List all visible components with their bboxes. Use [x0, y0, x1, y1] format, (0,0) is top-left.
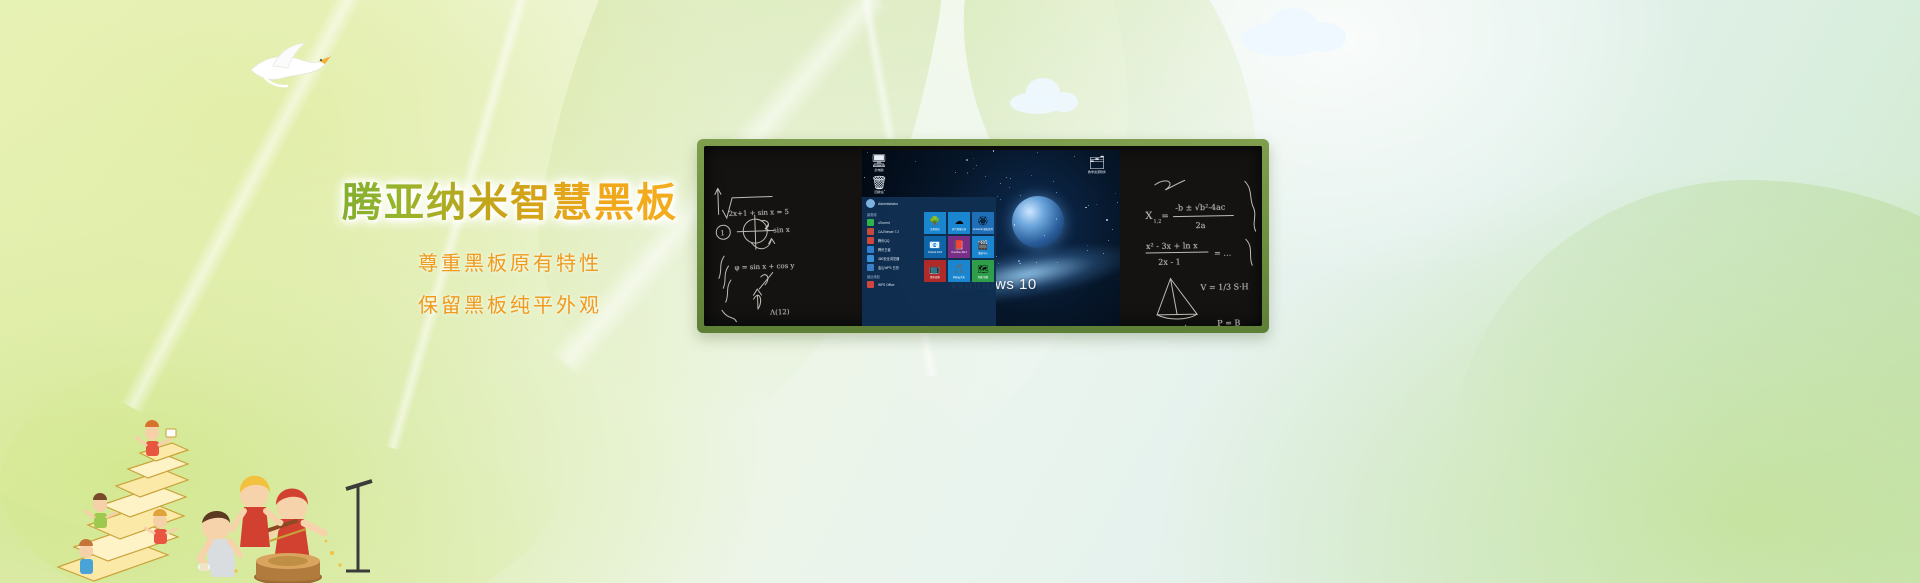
- tile-label: OneNote 2013: [951, 251, 967, 254]
- star-speck: [976, 165, 977, 166]
- svg-text:1: 1: [720, 229, 725, 237]
- star-speck: [1037, 152, 1038, 153]
- star-speck: [1000, 199, 1001, 200]
- svg-text:= …: = …: [1214, 249, 1231, 258]
- tile[interactable]: 📕OneNote 2013: [948, 236, 970, 258]
- start-menu-tiles[interactable]: 🌳应用商店 ☁天气预报记录 🏵Autodesk 图形软件 📧Outlook 20…: [922, 210, 996, 284]
- svg-text:x² - 3x + ln x: x² - 3x + ln x: [1146, 241, 1198, 251]
- tile[interactable]: ☁天气预报记录: [948, 212, 970, 234]
- chalk-formulas-right: X 1,2 = -b ± √b²-4ac 2a x² - 3x + ln x 2…: [1141, 165, 1262, 326]
- star-speck: [1057, 262, 1058, 263]
- star-speck: [1106, 219, 1108, 221]
- star-speck: [1112, 229, 1113, 230]
- tile[interactable]: 🎬播放中心: [972, 236, 994, 258]
- star-speck: [864, 177, 865, 178]
- subtitle-line-2: 保留黑板纯平外观: [300, 296, 720, 316]
- star-speck: [955, 172, 956, 173]
- star-speck: [1018, 260, 1020, 262]
- star-speck: [1024, 207, 1025, 208]
- tile-label: 天气预报记录: [952, 227, 966, 231]
- star-speck: [985, 176, 987, 178]
- app-icon: [867, 281, 874, 288]
- star-speck: [1035, 269, 1036, 270]
- page-title: 腾亚纳米智慧黑板: [300, 178, 720, 228]
- svg-text:2a: 2a: [1195, 221, 1205, 230]
- star-speck: [1096, 204, 1097, 205]
- star-speck: [973, 168, 974, 169]
- start-menu-item-label: 360安全浏览器: [878, 256, 899, 261]
- blackboard-surface[interactable]: 2x+1 + sin x = 5 1 sin x φ = sin x + cos…: [704, 146, 1262, 326]
- star-speck: [967, 172, 969, 174]
- star-speck: [1056, 218, 1058, 220]
- tile-icon: 🏵: [977, 216, 988, 226]
- tile-label: 腾讯视频: [930, 275, 940, 279]
- svg-text:φ = sin x + cos y: φ = sin x + cos y: [734, 262, 794, 272]
- hero-banner: 腾亚纳米智慧黑板 尊重黑板原有特性 保留黑板纯平外观 2x+1 + sin x …: [0, 0, 1920, 583]
- star-speck: [973, 158, 974, 159]
- star-speck: [1020, 195, 1021, 196]
- star-speck: [1074, 156, 1075, 157]
- desktop-icon-label: 教学资源软件: [1088, 170, 1106, 174]
- star-speck: [966, 159, 968, 161]
- star-speck: [1115, 193, 1116, 194]
- tile[interactable]: 📺腾讯视频: [924, 260, 946, 282]
- tile[interactable]: 🎵网易云音乐: [948, 260, 970, 282]
- start-menu-item-label: CAJViewer 7.2: [878, 230, 899, 234]
- svg-text:v = const: v = const: [1148, 323, 1188, 326]
- tile-icon: 🗺: [977, 264, 988, 274]
- star-speck: [915, 161, 917, 163]
- star-speck: [1010, 178, 1011, 179]
- app-icon: [867, 219, 874, 226]
- desktop-icon-label: 此电脑: [874, 168, 883, 172]
- svg-text:-b ± √b²-4ac: -b ± √b²-4ac: [1175, 203, 1226, 213]
- svg-text:X: X: [1145, 211, 1153, 222]
- star-speck: [993, 150, 995, 152]
- tile[interactable]: 🏵Autodesk 图形软件: [972, 212, 994, 234]
- hero-text-block: 腾亚纳米智慧黑板 尊重黑板原有特性 保留黑板纯平外观: [300, 178, 720, 316]
- star-speck: [1053, 181, 1054, 182]
- user-name: Administrator: [878, 202, 898, 206]
- desktop-icon-app[interactable]: 🗂 教学资源软件: [1084, 156, 1110, 175]
- star-speck: [1006, 177, 1007, 178]
- computer-icon: 🖥: [866, 154, 892, 168]
- background-shape-5: [1450, 180, 1920, 583]
- start-menu-item-label: WPS Office: [878, 283, 894, 287]
- kids-reading-books-illustration: [40, 355, 400, 583]
- svg-text:sin x: sin x: [773, 226, 790, 235]
- desktop-icon-computer[interactable]: 🖥 此电脑: [866, 154, 892, 173]
- star-speck: [1088, 205, 1089, 206]
- tile-icon: ☁: [955, 216, 964, 226]
- svg-text:P = B: P = B: [1217, 318, 1240, 326]
- star-speck: [998, 263, 999, 264]
- tile-icon: 📺: [929, 264, 940, 274]
- tile[interactable]: 📧Outlook 2013: [924, 236, 946, 258]
- tile-label: Autodesk 图形软件: [973, 227, 993, 231]
- desktop-icon-label: 回收站: [874, 190, 883, 194]
- chalk-formulas-left: 2x+1 + sin x = 5 1 sin x φ = sin x + cos…: [709, 165, 865, 326]
- start-menu[interactable]: Administrator 最常用 uTorrent CAJViewer 7.2…: [862, 197, 996, 326]
- star-speck: [997, 196, 998, 197]
- start-menu-item-label: 金山WPS 日历: [878, 265, 899, 270]
- tile[interactable]: 🌳应用商店: [924, 212, 946, 234]
- start-menu-item-label: uTorrent: [878, 221, 890, 225]
- star-speck: [1087, 245, 1088, 246]
- smart-blackboard-device[interactable]: 2x+1 + sin x = 5 1 sin x φ = sin x + cos…: [697, 139, 1269, 333]
- app-icon: [867, 264, 874, 271]
- app-icon: [867, 228, 874, 235]
- svg-text:Λ(12): Λ(12): [769, 308, 790, 317]
- tile-icon: 📕: [953, 240, 964, 250]
- desktop-icon-recycle-bin[interactable]: 🗑 回收站: [866, 176, 892, 195]
- star-speck: [1031, 175, 1032, 176]
- windows-desktop[interactable]: Windows 10 🖥 此电脑 🗑 回收站 🗂 教学资源软件 Admi: [862, 150, 1120, 326]
- app-icon: [867, 246, 874, 253]
- svg-text:2x - 1: 2x - 1: [1158, 257, 1181, 266]
- svg-text:1,2: 1,2: [1153, 219, 1161, 225]
- star-speck: [1009, 187, 1010, 188]
- svg-text:=: =: [1161, 212, 1169, 222]
- star-speck: [1117, 202, 1118, 203]
- start-menu-item-label: 腾讯王者: [878, 247, 891, 252]
- tile-label: 播放中心: [978, 251, 988, 255]
- tile-label: Outlook 2013: [928, 251, 942, 254]
- subtitle-line-1: 尊重黑板原有特性: [300, 254, 720, 274]
- app-icon: [867, 237, 874, 244]
- planet-graphic: [1012, 196, 1064, 248]
- tile-icon: 🎵: [953, 264, 964, 274]
- tile-label: 应用商店: [930, 227, 940, 231]
- recycle-bin-icon: 🗑: [866, 176, 892, 190]
- app-icon: 🗂: [1084, 156, 1110, 170]
- tile-icon: 🌳: [929, 216, 940, 226]
- star-speck: [1000, 183, 1001, 184]
- tile-icon: 📧: [929, 240, 940, 250]
- app-icon: [867, 255, 874, 262]
- star-speck: [1056, 192, 1057, 193]
- star-speck: [1085, 207, 1087, 209]
- tile-label: 网易云音乐: [953, 275, 965, 279]
- start-menu-user[interactable]: Administrator: [862, 197, 996, 210]
- svg-text:V = 1/3 S·H: V = 1/3 S·H: [1200, 282, 1249, 292]
- tile-icon: 🎬: [977, 240, 988, 250]
- dove-icon: [245, 34, 335, 92]
- tile-label: 地图 地图: [978, 275, 988, 279]
- tile[interactable]: 🗺地图 地图: [972, 260, 994, 282]
- start-menu-item-label: 腾讯QQ: [878, 238, 889, 243]
- star-speck: [1044, 235, 1045, 236]
- avatar: [866, 199, 875, 208]
- star-speck: [867, 152, 868, 153]
- svg-text:2x+1 + sin x = 5: 2x+1 + sin x = 5: [728, 208, 789, 218]
